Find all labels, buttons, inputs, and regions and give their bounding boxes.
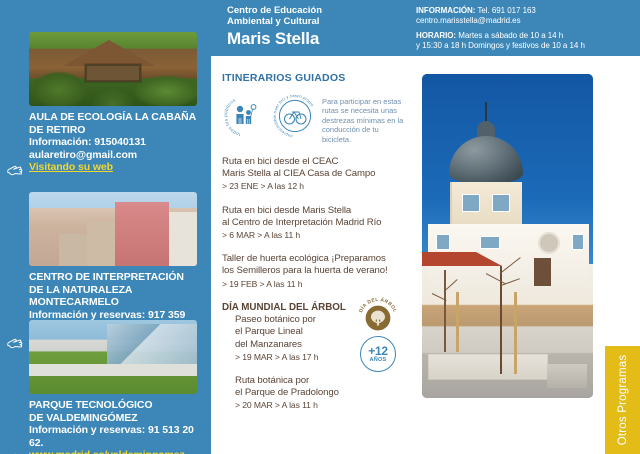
bring-bike-stamp: imprescindible traer bici y casco propio: [272, 93, 318, 139]
sidebar-item-title: AULA DE ECOLOGÍA LA CABAÑA DE RETIRO: [29, 111, 201, 136]
stamps-row: todos los públicos: [222, 93, 404, 144]
itinerary-line-2: al Centro de Interpretación Madrid Río: [222, 217, 404, 229]
sidebar-item-info: Información: 915040131: [29, 136, 201, 149]
header-subtitle: Centro de Educación Ambiental y Cultural: [227, 5, 322, 27]
tree-stake: [514, 292, 517, 374]
dome-window: [462, 194, 480, 212]
itinerary-item[interactable]: Ruta en bici desde el CEAC Maris Stella …: [222, 156, 404, 193]
header-info-line: INFORMACIÓN: Tel. 691 017 163: [416, 6, 638, 16]
page-header: Centro de Educación Ambiental y Cultural…: [211, 0, 640, 56]
age-restriction-badge: +12 AÑOS: [360, 336, 396, 372]
techpark-photo: [29, 320, 197, 394]
age-badge-unit: AÑOS: [370, 358, 387, 364]
group-item[interactable]: Ruta botánica por el Parque de Pradolong…: [222, 375, 404, 412]
itinerary-date: > 6 MAR > A las 11 h: [222, 229, 404, 241]
itinerary-line-2: los Semilleros para la huerta de verano!: [222, 265, 404, 277]
itinerary-line-2: Maris Stella al CIEA Casa de Campo: [222, 168, 404, 180]
tile-roof: [422, 252, 502, 266]
sidebar-item-link-row[interactable]: Visitando su web: [29, 161, 201, 174]
sidebar-item-parque-tecnologico-valdemingomez[interactable]: PARQUE TECNOLÓGICO DE VALDEMINGÓMEZ Info…: [29, 320, 201, 454]
sidebar-item-aula-ecologia-cabana-retiro[interactable]: AULA DE ECOLOGÍA LA CABAÑA DE RETIRO Inf…: [29, 32, 201, 174]
header-schedule-value: Martes a sábado de 10 a 14 h: [458, 31, 563, 40]
cabin-photo: [29, 32, 197, 106]
sidebar-item-email: aularetiro@gmail.com: [29, 149, 201, 162]
title-line-1: PARQUE TECNOLÓGICO: [29, 399, 201, 412]
page-title: Maris Stella: [227, 29, 319, 49]
concrete-block: [547, 364, 587, 388]
group-item-line-2: el Parque de Pradolongo: [235, 387, 404, 399]
facade-window: [436, 234, 450, 250]
concrete-bench: [428, 354, 548, 380]
maris-stella-building-photo: [422, 74, 593, 398]
church-photo: [29, 192, 197, 266]
entrance-door: [534, 258, 551, 286]
sidebar-item-title: CENTRO DE INTERPRETACIÓN DE LA NATURALEZ…: [29, 271, 201, 309]
header-subtitle-line-1: Centro de Educación: [227, 5, 322, 16]
facade-window: [480, 236, 500, 249]
sidebar: AULA DE ECOLOGÍA LA CABAÑA DE RETIRO Inf…: [0, 0, 211, 454]
group-item-line-1: Ruta botánica por: [235, 375, 404, 387]
all-audiences-stamp: todos los públicos: [222, 93, 268, 139]
facade-window: [572, 234, 584, 250]
pointing-hand-icon: [5, 335, 25, 351]
title-line-2: DE VALDEMINGÓMEZ: [29, 412, 201, 425]
age-badge-value: +12: [368, 345, 387, 357]
tree-stake: [456, 292, 459, 352]
header-subtitle-line-2: Ambiental y Cultural: [227, 16, 322, 27]
brochure-page: AULA DE ECOLOGÍA LA CABAÑA DE RETIRO Inf…: [0, 0, 640, 454]
title-line-2: DE LA NATURALEZA MONTECARMELO: [29, 284, 201, 309]
sidebar-item-title: PARQUE TECNOLÓGICO DE VALDEMINGÓMEZ: [29, 399, 201, 424]
dome-base: [450, 182, 522, 226]
header-info-value: Tel. 691 017 163: [477, 6, 535, 15]
itinerary-line-1: Taller de huerta ecológica ¡Preparamos: [222, 253, 404, 265]
itinerary-line-1: Ruta en bici desde el CEAC: [222, 156, 404, 168]
itinerary-date: > 19 FEB > A las 11 h: [222, 278, 404, 290]
itinerary-item[interactable]: Taller de huerta ecológica ¡Preparamos l…: [222, 253, 404, 290]
dia-del-arbol-badge: DÍA DEL ÁRBOL: [357, 297, 399, 339]
itinerary-item[interactable]: Ruta en bici desde Maris Stella al Centr…: [222, 205, 404, 242]
sidebar-item-link[interactable]: www.madrid.es/valdemingomez: [29, 449, 185, 454]
header-schedule-line-2: y 15:30 a 18 h Domingos y festivos de 10…: [416, 41, 638, 51]
pointing-hand-icon: [5, 450, 25, 454]
participation-note: Para participar en estas rutas se necesi…: [322, 97, 404, 144]
header-email[interactable]: centro.marisstella@madrid.es: [416, 16, 638, 26]
itinerary-line-1: Ruta en bici desde Maris Stella: [222, 205, 404, 217]
header-contact-block: INFORMACIÓN: Tel. 691 017 163 centro.mar…: [416, 6, 638, 51]
header-schedule-line: HORARIO: Martes a sábado de 10 a 14 h: [416, 31, 638, 41]
sidebar-item-link[interactable]: Visitando su web: [29, 161, 113, 174]
title-line-2: DE RETIRO: [29, 124, 201, 137]
young-tree-trunk: [444, 270, 446, 352]
tab-otros-programas[interactable]: Otros Programas: [605, 346, 640, 454]
dome-window: [492, 194, 510, 212]
sidebar-item-link-row[interactable]: www.madrid.es/valdemingomez: [29, 449, 201, 454]
header-info-label: INFORMACIÓN:: [416, 6, 475, 15]
itinerary-date: > 23 ENE > A las 12 h: [222, 180, 404, 192]
tab-label: Otros Programas: [617, 355, 629, 446]
round-window: [538, 232, 560, 254]
title-line-1: CENTRO DE INTERPRETACIÓN: [29, 271, 201, 284]
pointing-hand-icon: [5, 162, 25, 178]
section-title-itinerarios: ITINERARIOS GUIADOS: [222, 72, 404, 84]
title-line-1: AULA DE ECOLOGÍA LA CABAÑA: [29, 111, 201, 124]
header-schedule-label: HORARIO:: [416, 31, 456, 40]
sidebar-item-info: Información y reservas: 91 513 20 62.: [29, 424, 201, 449]
group-item-date: > 20 MAR > A las 11 h: [235, 399, 404, 411]
